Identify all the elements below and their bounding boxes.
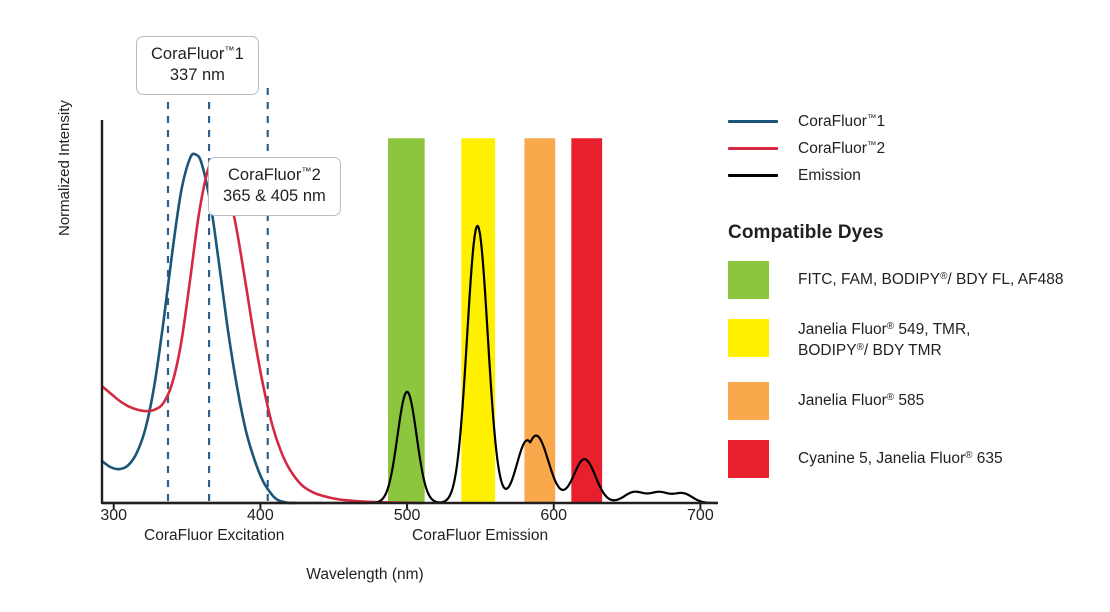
orange-band (524, 138, 555, 503)
x-tick-label-600: 600 (524, 507, 584, 525)
trademark-symbol: ™ (867, 140, 877, 151)
x-tick-label-500: 500 (377, 507, 437, 525)
legend-line-swatch-corafluor-1 (728, 120, 778, 123)
excitation-marker-lines (168, 88, 268, 503)
dye-label: Cyanine 5, Janelia Fluor® 635 (798, 440, 1003, 470)
legend-series-label: Emission (798, 167, 861, 185)
legend-line-swatch-emission (728, 174, 778, 177)
dye-swatch-red-band (728, 440, 769, 478)
dye-label: Janelia Fluor® 549, TMR,BODIPY®/ BDY TMR (798, 319, 970, 362)
y-axis-label: Normalized Intensity (56, 66, 73, 236)
dye-label: Janelia Fluor® 585 (798, 382, 924, 412)
registered-symbol: ® (940, 271, 947, 282)
registered-symbol: ® (965, 450, 972, 461)
dye-swatch-green-band (728, 261, 769, 299)
legend-series-corafluor-1: CoraFluor™1 (728, 108, 1098, 135)
dye-label-line: Janelia Fluor® 585 (798, 391, 924, 412)
trademark-symbol: ™ (867, 113, 877, 124)
yellow-band (461, 138, 495, 503)
trademark-symbol: ™ (301, 167, 311, 178)
dye-row-orange-band: Janelia Fluor® 585 (728, 382, 1098, 420)
dye-swatch-orange-band (728, 382, 769, 420)
dye-row-yellow-band: Janelia Fluor® 549, TMR,BODIPY®/ BDY TMR (728, 319, 1098, 362)
dye-label-line: Janelia Fluor® 549, TMR, (798, 320, 970, 341)
x-tick-label-300: 300 (84, 507, 144, 525)
callout-line-2: 365 & 405 nm (223, 186, 326, 207)
registered-symbol: ® (887, 392, 894, 403)
red-band (571, 138, 602, 503)
callout-corafluor-2: CoraFluor™2 365 & 405 nm (208, 157, 341, 216)
registered-symbol: ® (887, 321, 894, 332)
legend-series-label: CoraFluor™2 (798, 140, 885, 158)
trademark-symbol: ™ (224, 46, 234, 57)
segment-label-excitation: CoraFluor Excitation (144, 527, 284, 545)
series-legend: CoraFluor™1CoraFluor™2Emission (728, 108, 1098, 189)
legend-series-label: CoraFluor™1 (798, 113, 885, 131)
legend-panel: CoraFluor™1CoraFluor™2Emission Compatibl… (728, 108, 1098, 498)
callout-line-1: CoraFluor™2 (223, 165, 326, 186)
compatible-dyes-list: FITC, FAM, BODIPY®/ BDY FL, AF488Janelia… (728, 261, 1098, 478)
dye-row-green-band: FITC, FAM, BODIPY®/ BDY FL, AF488 (728, 261, 1098, 299)
callout-line-1: CoraFluor™1 (151, 44, 244, 65)
x-axis-label: Wavelength (nm) (0, 566, 730, 584)
figure-root: Normalized Intensity 300400500600700 Cor… (0, 0, 1110, 612)
dye-label-line: FITC, FAM, BODIPY®/ BDY FL, AF488 (798, 270, 1063, 291)
dye-label-line: BODIPY®/ BDY TMR (798, 341, 970, 362)
dye-label-line: Cyanine 5, Janelia Fluor® 635 (798, 449, 1003, 470)
legend-series-corafluor-2: CoraFluor™2 (728, 135, 1098, 162)
legend-line-swatch-corafluor-2 (728, 147, 778, 150)
x-tick-label-700: 700 (670, 507, 730, 525)
segment-label-emission: CoraFluor Emission (412, 527, 548, 545)
x-tick-label-400: 400 (230, 507, 290, 525)
dye-label: FITC, FAM, BODIPY®/ BDY FL, AF488 (798, 261, 1063, 291)
dye-swatch-yellow-band (728, 319, 769, 357)
callout-corafluor-1: CoraFluor™1 337 nm (136, 36, 259, 95)
legend-series-emission: Emission (728, 162, 1098, 189)
registered-symbol: ® (857, 342, 864, 353)
compatible-dyes-heading: Compatible Dyes (728, 222, 1098, 244)
callout-line-2: 337 nm (151, 65, 244, 86)
dye-row-red-band: Cyanine 5, Janelia Fluor® 635 (728, 440, 1098, 478)
